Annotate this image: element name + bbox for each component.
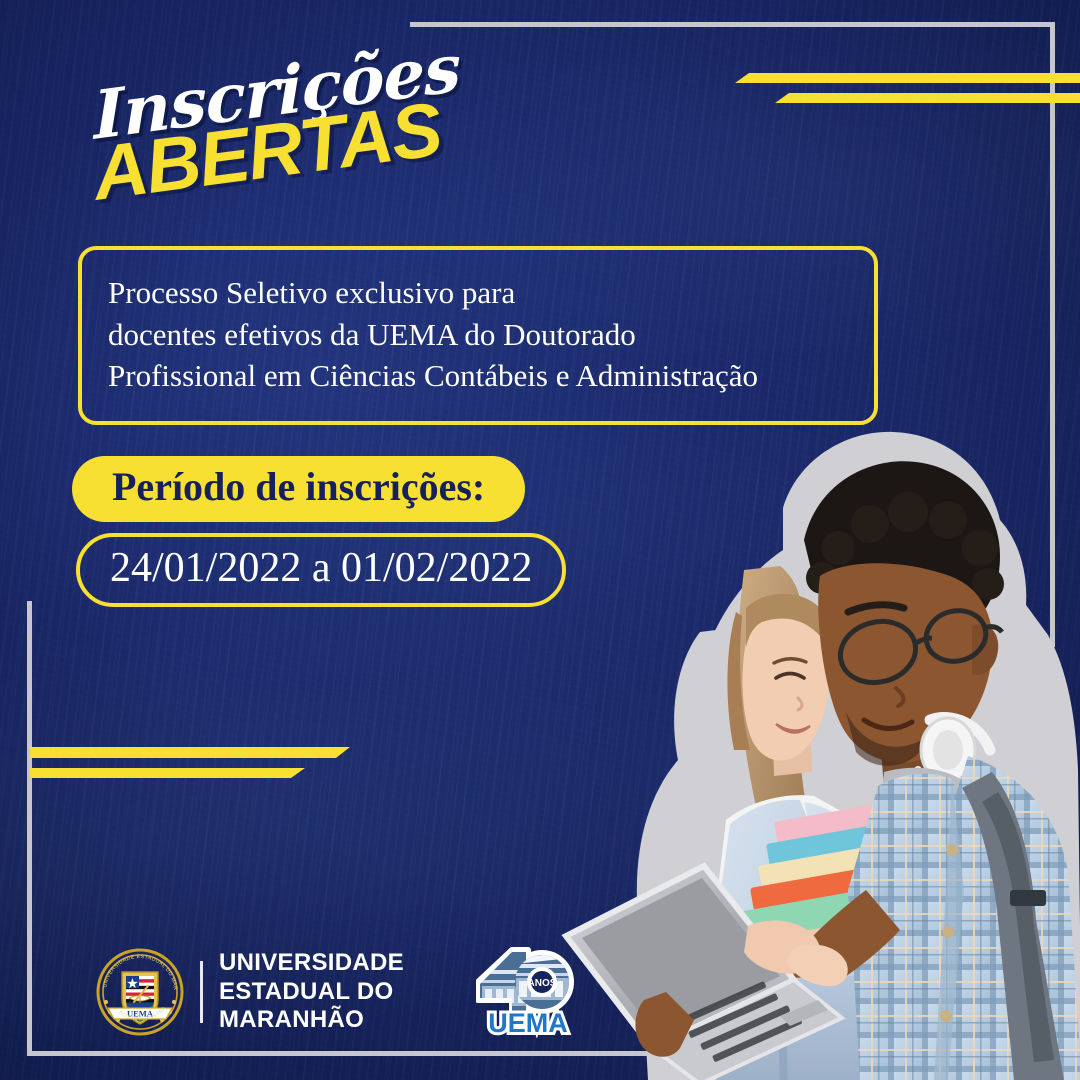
- anniversary-40-anos-icon: ANOS UEMA: [476, 946, 582, 1038]
- footer: UNIVERSIDADE ESTADUAL DO MARANHÃO: [96, 946, 582, 1038]
- uema-crest-icon: UNIVERSIDADE ESTADUAL DO MARANHÃO: [96, 946, 184, 1038]
- brand-divider: [200, 961, 203, 1023]
- period-label-pill: Período de inscrições:: [72, 456, 525, 522]
- accent-bar-bottom-left-1: [30, 747, 350, 758]
- anniversary-anos-text: ANOS: [528, 978, 557, 989]
- period-dates-text: 24/01/2022 a 01/02/2022: [110, 547, 532, 589]
- description-box: Processo Seletivo exclusivo para docente…: [78, 246, 878, 425]
- uema-brand-lockup: UNIVERSIDADE ESTADUAL DO MARANHÃO: [96, 946, 404, 1038]
- anniversary-uema-text: UEMA: [488, 1008, 568, 1038]
- institution-line-1: UNIVERSIDADE: [219, 949, 404, 978]
- description-line-1: Processo Seletivo exclusivo para: [108, 272, 848, 314]
- period-label-text: Período de inscrições:: [112, 467, 485, 507]
- institution-name: UNIVERSIDADE ESTADUAL DO MARANHÃO: [219, 949, 404, 1035]
- accent-bar-bottom-left-2: [30, 768, 305, 778]
- institution-line-2: ESTADUAL DO: [219, 978, 404, 1007]
- description-line-3: Profissional em Ciências Contábeis e Adm…: [108, 355, 848, 397]
- anniversary-logo: ANOS UEMA: [476, 946, 582, 1038]
- period-dates-pill: 24/01/2022 a 01/02/2022: [76, 533, 566, 607]
- students-photo-illustration: [548, 420, 1080, 1080]
- description-line-2: docentes efetivos da UEMA do Doutorado: [108, 314, 848, 356]
- institution-line-3: MARANHÃO: [219, 1006, 404, 1035]
- poster-root: Inscrições ABERTAS Processo Seletivo exc…: [0, 0, 1080, 1080]
- accent-bar-top-right-2: [775, 93, 1080, 103]
- students-photo: [548, 420, 1080, 1080]
- accent-bar-top-right-1: [735, 73, 1080, 83]
